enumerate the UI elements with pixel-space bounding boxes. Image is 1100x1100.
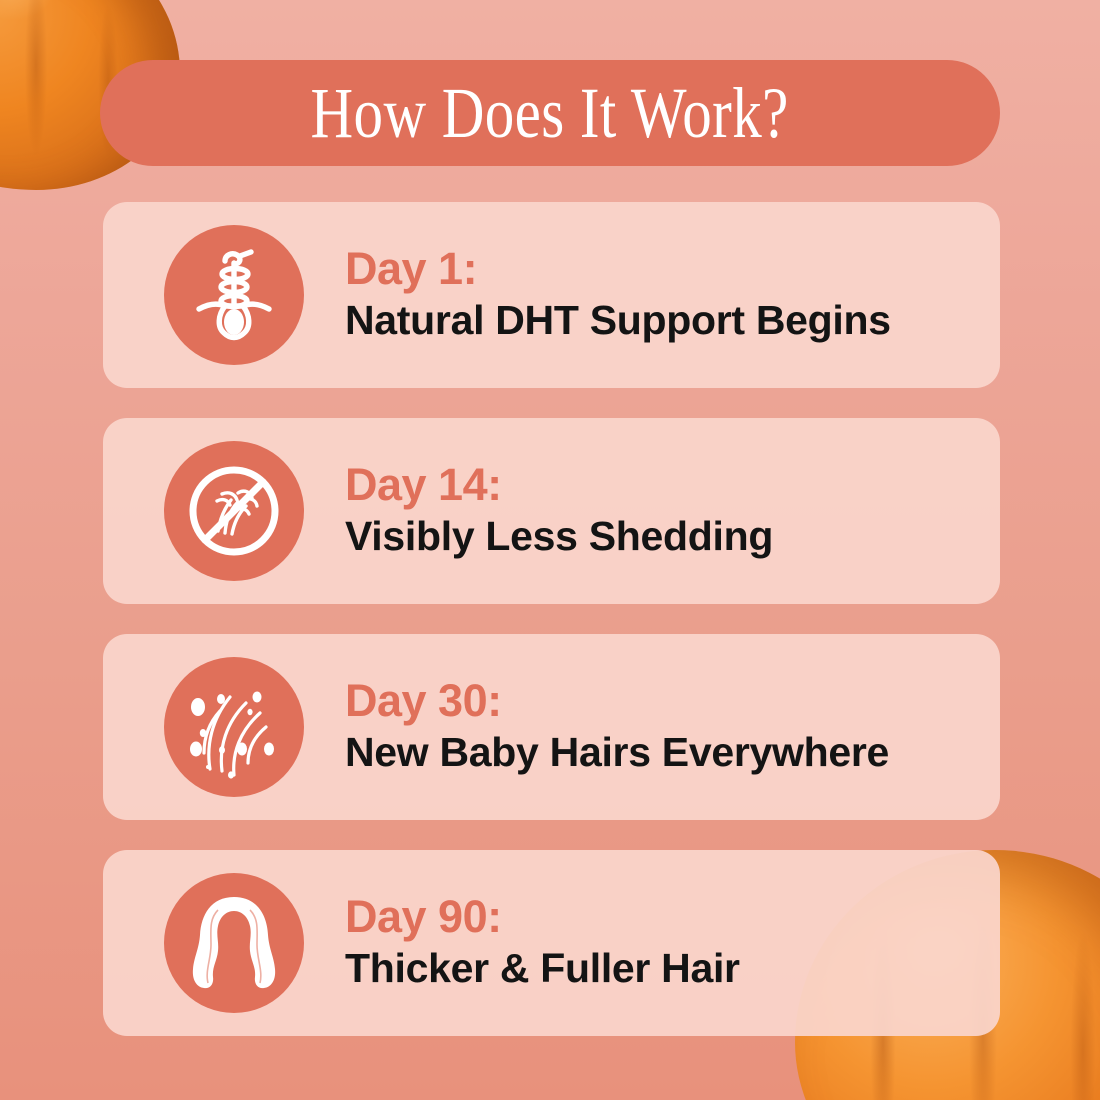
timeline-step-text: Day 14: Visibly Less Shedding	[345, 462, 773, 560]
title-banner: How Does It Work?	[100, 60, 1000, 166]
day-description: Visibly Less Shedding	[345, 512, 773, 560]
day-label: Day 14:	[345, 462, 773, 508]
day-label: Day 1:	[345, 246, 891, 292]
timeline-step-text: Day 30: New Baby Hairs Everywhere	[345, 678, 889, 776]
day-label: Day 30:	[345, 678, 889, 724]
timeline-step-day-14: Day 14: Visibly Less Shedding	[103, 418, 1000, 604]
no-shedding-icon	[164, 441, 304, 581]
timeline-step-day-1: Day 1: Natural DHT Support Begins	[103, 202, 1000, 388]
timeline-step-day-90: Day 90: Thicker & Fuller Hair	[103, 850, 1000, 1036]
new-baby-hairs-scalp-icon	[164, 657, 304, 797]
timeline-card-list: Day 1: Natural DHT Support Begins	[103, 202, 1000, 1036]
day-description: Thicker & Fuller Hair	[345, 944, 740, 992]
day-description: Natural DHT Support Begins	[345, 296, 891, 344]
pumpkin-stem-icon	[1095, 973, 1100, 1068]
day-description: New Baby Hairs Everywhere	[345, 728, 889, 776]
page-title: How Does It Work?	[311, 77, 789, 149]
day-label: Day 90:	[345, 894, 740, 940]
timeline-step-day-30: Day 30: New Baby Hairs Everywhere	[103, 634, 1000, 820]
long-wavy-hair-icon	[164, 873, 304, 1013]
promo-graphic-canvas: How Does It Work?	[0, 0, 1100, 1100]
timeline-step-text: Day 1: Natural DHT Support Begins	[345, 246, 891, 344]
hair-follicle-dht-icon	[164, 225, 304, 365]
timeline-step-text: Day 90: Thicker & Fuller Hair	[345, 894, 740, 992]
